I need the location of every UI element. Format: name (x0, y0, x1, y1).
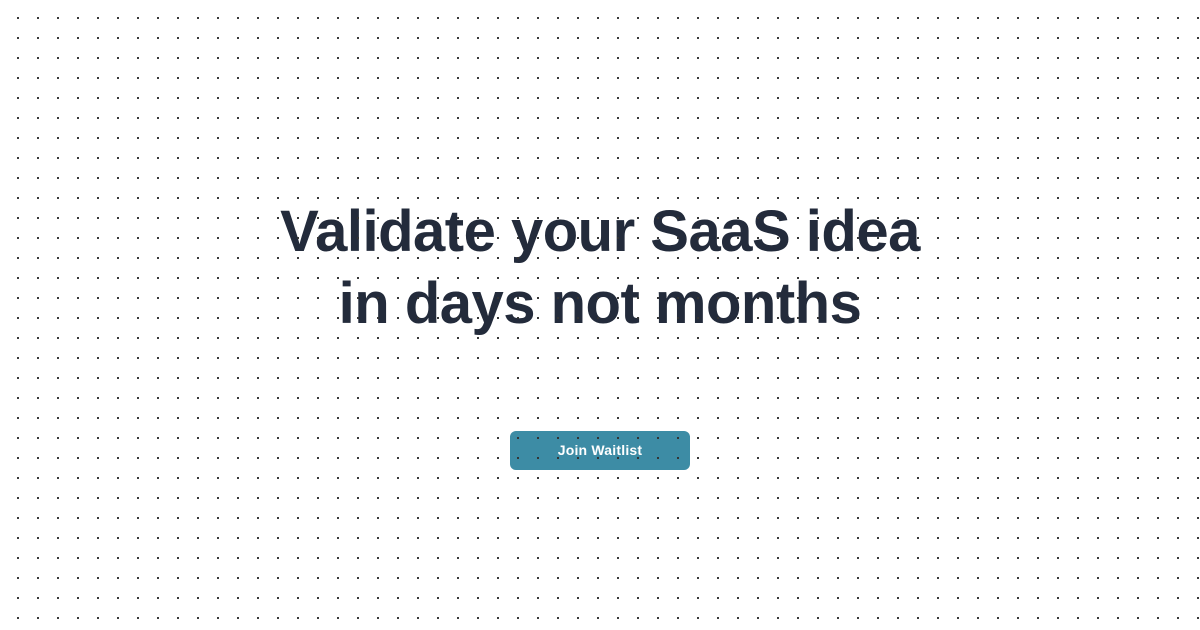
join-waitlist-button[interactable]: Join Waitlist (510, 431, 690, 470)
page-title: Validate your SaaS idea in days not mont… (0, 196, 1200, 340)
headline-line-2: in days not months (0, 268, 1200, 340)
hero-content: Validate your SaaS idea in days not mont… (0, 0, 1200, 630)
hero-section: Validate your SaaS idea in days not mont… (0, 0, 1200, 630)
headline-line-1: Validate your SaaS idea (0, 196, 1200, 268)
cta-container: Join Waitlist (0, 431, 1200, 470)
